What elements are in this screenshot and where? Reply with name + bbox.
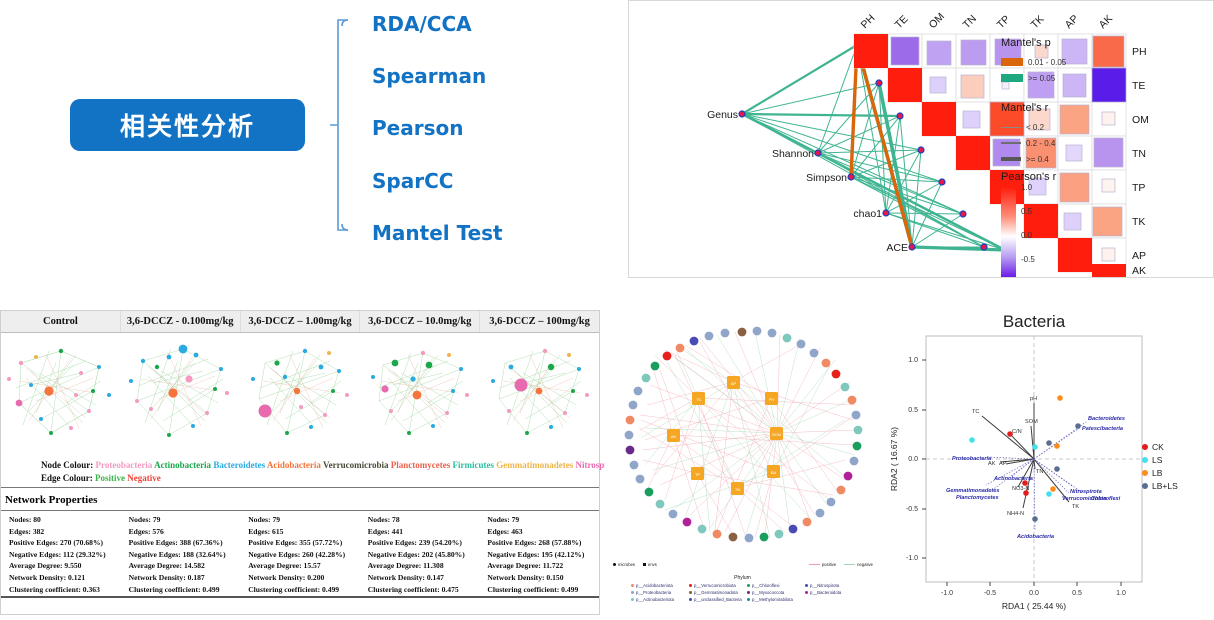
mindmap-center-label: 相关性分析 [120, 107, 255, 143]
env-label: AP [999, 461, 1007, 467]
rda-ylabel: RDA2 ( 16.67 %) [889, 427, 899, 491]
mantel-plot-svg: Genus Shannon Simpson chao1 ACE [629, 1, 1213, 277]
network-graph-svg [361, 333, 481, 455]
network-graph-control[interactable] [1, 333, 121, 455]
mantel-node-label-ace: ACE [886, 242, 908, 254]
point-ls [1046, 491, 1052, 497]
legend-label: positive [822, 562, 836, 567]
taxa-label: Patescibacteria [1082, 426, 1123, 432]
legend-label: negative [857, 562, 873, 567]
point-lb [1050, 486, 1056, 492]
env-node-label: PH [769, 397, 775, 402]
taxa-label: Acidobacteria [1016, 534, 1054, 540]
point-ls [969, 437, 975, 443]
network-column-headers: Control 3,6-DCCZ - 0.100mg/kg 3,6-DCCZ –… [1, 311, 599, 333]
phylum-label: p__Methylomirabilota [752, 596, 793, 603]
rda-xlabel: RDA1 ( 25.44 %) [1002, 601, 1066, 611]
network-col-title-dccz-0100: 3,6-DCCZ - 0.100mg/kg [121, 311, 241, 332]
taxa-label: Planctomycetes [956, 495, 999, 501]
phylum-legend-item: p__Chloroflexi [747, 582, 803, 589]
mantel-node-label-shannon: Shannon [772, 148, 814, 160]
mantel-legend-p-item: >= 0.05 [1001, 70, 1066, 86]
prop-edges: Edges: 576 [129, 526, 241, 538]
prop-positive: Positive Edges: 355 (57.72%) [248, 537, 360, 549]
phylum-dot-icon [689, 598, 692, 601]
prop-edges: Edges: 441 [368, 526, 480, 538]
network-graphs-row [1, 333, 599, 455]
mantel-node-label-genus: Genus [707, 109, 738, 121]
prop-edges: Edges: 382 [9, 526, 121, 538]
point-lb [1054, 443, 1060, 449]
legend-line-thick [1001, 157, 1021, 162]
env-label: TC [972, 409, 979, 415]
rda-legend-item-ck[interactable]: CK [1142, 440, 1178, 453]
prop-avg-degree: Average Degree: 14.582 [129, 560, 241, 572]
legend-label: 0.01 - 0.05 [1028, 58, 1066, 67]
mantel-col-labels: PH TE OM TN TP TK AP AK [859, 11, 1115, 31]
mantel-row-label: TE [1132, 80, 1145, 92]
pearson-tick: 0.5 [1021, 207, 1032, 216]
env-node-label: BA [771, 470, 777, 475]
svg-text:0.0: 0.0 [1029, 590, 1039, 597]
legend-label: LB [1152, 468, 1162, 478]
legend-label: >= 0.4 [1026, 155, 1049, 164]
network-properties-column: Nodes: 78 Edges: 441 Positive Edges: 239… [360, 514, 480, 595]
env-label: NH4-N [1007, 511, 1024, 517]
phylum-legend-item: p__Acidobacteriota [631, 582, 687, 589]
rda-legend-item-lb[interactable]: LB [1142, 466, 1178, 479]
prop-clustering: Clustering coefficient: 0.499 [129, 584, 241, 596]
prop-negative: Negative Edges: 202 (45.80%) [368, 549, 480, 561]
mantel-row-label: AK [1132, 265, 1146, 277]
positive-line-icon [809, 564, 820, 565]
env-node-label: SOM [772, 432, 781, 437]
phylum-legend-item: p__Myxococcota [747, 589, 803, 596]
prop-density: Network Density: 0.150 [487, 572, 599, 584]
network-graph-dccz-0100[interactable] [121, 333, 241, 455]
network-comparison-figure: Control 3,6-DCCZ - 0.100mg/kg 3,6-DCCZ –… [0, 310, 600, 615]
mindmap-item-label: RDA/CCA [372, 12, 472, 36]
taxa-label: Nitrospirota [1070, 489, 1102, 495]
env-node-label: TN [735, 487, 740, 492]
phylum-label: p__Proteobacteria [636, 589, 671, 596]
edge-positive-label: Positive [95, 473, 125, 483]
mantel-col-label: TN [961, 13, 979, 31]
correlation-analysis-mindmap: 相关性分析 RDA/CCA Spearman Pearson SparCC Ma… [0, 0, 610, 300]
network-graph-svg [241, 333, 361, 455]
phylum-legend-item: p__Actinobacteriota [631, 596, 687, 603]
network-colour-legend: Node Colour: Proteobacteria Actinobacter… [1, 455, 599, 487]
edge-colour-label: Edge Colour: [41, 473, 93, 483]
svg-text:1.0: 1.0 [908, 357, 918, 364]
phylum-label: p__Chloroflexi [752, 582, 779, 589]
network-col-title-dccz-100: 3,6-DCCZ – 1.00mg/kg [241, 311, 361, 332]
phylum-legend-item: p__Methylomirabilota [747, 596, 803, 603]
mantel-legend-r-item: >= 0.4 [1001, 151, 1055, 167]
legend-label: >= 0.05 [1028, 74, 1055, 83]
mindmap-item-pearson[interactable]: Pearson [372, 116, 463, 140]
circular-network-figure: AP TS PH AK SOM TP BA TN microbes env [605, 310, 880, 615]
mantel-legend-p-title: Mantel's p [1001, 37, 1066, 49]
phylum-label: p__Verrucomicrobiota [694, 582, 736, 589]
phylum-legend-item: p__Nitrospirota [805, 582, 861, 589]
phylum-label: p__Actinobacteriota [636, 596, 674, 603]
phylum-legend-title: Phylum [605, 575, 880, 581]
prop-positive: Positive Edges: 388 (67.36%) [129, 537, 241, 549]
phylum-label: p__unclassified_Bacteria [694, 596, 742, 603]
prop-avg-degree: Average Degree: 11.722 [487, 560, 599, 572]
prop-density: Network Density: 0.121 [9, 572, 121, 584]
legend-label: envs [648, 562, 657, 567]
legend-line-thin [1001, 127, 1021, 128]
rda-legend-item-ls[interactable]: LS [1142, 453, 1178, 466]
taxon-label: Acidobacteria [267, 460, 321, 470]
legend-label: microbes [618, 562, 635, 567]
prop-nodes: Nodes: 79 [129, 514, 241, 526]
taxon-label: Actinobacteria [154, 460, 211, 470]
prop-positive: Positive Edges: 239 (54.20%) [368, 537, 480, 549]
env-node-label: TS [696, 397, 701, 402]
phylum-legend-item: p__unclassified_Bacteria [689, 596, 745, 603]
phylum-dot-icon [747, 598, 750, 601]
svg-text:0.0: 0.0 [908, 456, 918, 463]
prop-clustering: Clustering coefficient: 0.475 [368, 584, 480, 596]
phylum-dot-icon [631, 591, 634, 594]
env-label: TK [1072, 504, 1079, 510]
legend-envs: envs [643, 562, 657, 567]
legend-label: 0.2 - 0.4 [1026, 139, 1055, 148]
phylum-dot-icon [805, 584, 808, 587]
point-ck [1023, 490, 1029, 496]
pearson-tick: 0.0 [1021, 231, 1032, 240]
env-label: TN [1036, 469, 1043, 475]
taxa-label: Chloroflexi [1091, 496, 1121, 502]
env-node-label: AP [731, 381, 737, 386]
mindmap-item-label: SparCC [372, 169, 453, 193]
network-graph-dccz-100mg[interactable] [481, 333, 601, 455]
phylum-dot-icon [631, 598, 634, 601]
legend-label: LS [1152, 455, 1162, 465]
network-graph-svg [481, 333, 601, 455]
legend-label: CK [1152, 442, 1164, 452]
taxon-label: Proteobacteria [96, 460, 153, 470]
phylum-dot-icon [689, 591, 692, 594]
svg-text:-0.5: -0.5 [984, 590, 996, 597]
circle-shape-icon [613, 563, 616, 566]
env-node-label: TP [695, 472, 700, 477]
mantel-node-label-chao1: chao1 [853, 208, 882, 220]
prop-nodes: Nodes: 80 [9, 514, 121, 526]
env-label: SOM [1025, 419, 1038, 425]
prop-negative: Negative Edges: 195 (42.12%) [487, 549, 599, 561]
prop-clustering: Clustering coefficient: 0.499 [487, 584, 599, 596]
mindmap-center-node[interactable]: 相关性分析 [70, 99, 305, 151]
phylum-dot-icon [747, 591, 750, 594]
network-properties-table: Nodes: 80 Edges: 382 Positive Edges: 270… [1, 511, 599, 595]
mindmap-item-label: Mantel Test [372, 221, 503, 245]
prop-positive: Positive Edges: 270 (70.68%) [9, 537, 121, 549]
mantel-row-labels: PH TE OM TN TP TK AP AK [1132, 46, 1149, 277]
phylum-label: p__Nitrospirota [810, 582, 839, 589]
pearson-tick: 1.0 [1021, 183, 1032, 192]
mantel-row-label: OM [1132, 114, 1149, 126]
legend-dot-icon [1142, 457, 1148, 463]
phylum-label: p__Myxococcota [752, 589, 784, 596]
pearson-colorbar [1001, 187, 1016, 277]
mindmap-item-label: Pearson [372, 116, 463, 140]
network-graph-dccz-1000[interactable] [361, 333, 481, 455]
legend-label: < 0.2 [1026, 123, 1044, 132]
point-lb-ls [1032, 516, 1038, 522]
mantel-row-label: TK [1132, 216, 1145, 228]
legend-microbes: microbes [613, 562, 635, 567]
mantel-legend-r-item: < 0.2 [1001, 119, 1055, 135]
phylum-dot-icon [689, 584, 692, 587]
mindmap-item-spearman[interactable]: Spearman [372, 64, 486, 88]
legend-dot-icon [1142, 470, 1148, 476]
rda-title: Bacteria [884, 312, 1184, 332]
network-graph-svg [121, 333, 241, 455]
network-properties-column: Nodes: 80 Edges: 382 Positive Edges: 270… [1, 514, 121, 595]
mindmap-item-sparcc[interactable]: SparCC [372, 169, 453, 193]
svg-text:-1.0: -1.0 [941, 590, 953, 597]
phylum-dot-icon [747, 584, 750, 587]
mantel-legend-p-item: 0.01 - 0.05 [1001, 54, 1066, 70]
mantel-col-label: TK [1029, 13, 1047, 31]
taxon-label: Gemmatimonadetes [496, 460, 573, 470]
mantel-row-label: AP [1132, 250, 1146, 262]
mantel-test-figure: Genus Shannon Simpson chao1 ACE [628, 0, 1214, 278]
taxon-label: Bacteroidetes [213, 460, 265, 470]
prop-nodes: Nodes: 79 [487, 514, 599, 526]
negative-line-icon [844, 564, 855, 565]
env-label: C/N [1012, 429, 1022, 435]
prop-density: Network Density: 0.187 [129, 572, 241, 584]
point-lb-ls [1054, 466, 1060, 472]
phylum-label: p__Bacteroidota [810, 589, 841, 596]
legend-swatch-green [1001, 74, 1023, 82]
network-col-title-control: Control [1, 311, 121, 332]
legend-swatch-orange [1001, 58, 1023, 66]
legend-edge-positive: positive [809, 562, 836, 567]
point-lb-ls [1046, 440, 1052, 446]
mantel-row-label: TN [1132, 148, 1146, 160]
phylum-dot-icon [805, 591, 808, 594]
network-properties-column: Nodes: 79 Edges: 615 Positive Edges: 355… [240, 514, 360, 595]
legend-dot-icon [1142, 444, 1148, 450]
square-shape-icon [643, 563, 646, 566]
svg-text:0.5: 0.5 [908, 407, 918, 414]
node-colour-legend-line: Node Colour: Proteobacteria Actinobacter… [41, 459, 591, 472]
network-properties-bottom-rule [1, 596, 599, 598]
prop-negative: Negative Edges: 188 (32.64%) [129, 549, 241, 561]
point-lb-ls [1075, 423, 1081, 429]
point-ls [1032, 444, 1038, 450]
circular-network-svg[interactable]: AP TS PH AK SOM TP BA TN [605, 310, 880, 560]
node-colour-label: Node Colour: [41, 460, 93, 470]
mantel-col-label: OM [927, 11, 947, 31]
prop-edges: Edges: 463 [487, 526, 599, 538]
rda-legend-item-lb-ls[interactable]: LB+LS [1142, 479, 1178, 492]
phylum-dot-icon [631, 584, 634, 587]
svg-text:1.0: 1.0 [1116, 590, 1126, 597]
mantel-col-label: AP [1063, 13, 1081, 31]
mantel-col-label: PH [859, 12, 878, 31]
env-node-label: AK [671, 434, 677, 439]
taxon-label: Planctomycetes [391, 460, 450, 470]
network-properties-title: Network Properties [5, 494, 97, 506]
network-properties-column: Nodes: 79 Edges: 576 Positive Edges: 388… [121, 514, 241, 595]
mindmap-item-mantel-test[interactable]: Mantel Test [372, 221, 503, 245]
taxa-label: Bacteroidetes [1088, 416, 1125, 422]
network-graph-dccz-100[interactable] [241, 333, 361, 455]
rda-bacteria-figure: Bacteria -1.0 -0.5 0.0 0.5 1.0 -1.0 -0.5… [884, 310, 1214, 615]
svg-text:-0.5: -0.5 [906, 506, 918, 513]
mantel-node-label-simpson: Simpson [806, 172, 847, 184]
prop-clustering: Clustering coefficient: 0.499 [248, 584, 360, 596]
env-label: pH [1030, 396, 1037, 402]
mantel-node-labels: Genus Shannon Simpson chao1 ACE [707, 109, 908, 254]
network-properties-header: Network Properties [1, 487, 599, 511]
circular-network-shape-legend: microbes envs positive negative [613, 562, 873, 567]
rda-y-ticks: -1.0 -0.5 0.0 0.5 1.0 [906, 357, 926, 562]
phylum-legend-item: p__Bacteroidota [805, 589, 861, 596]
prop-avg-degree: Average Degree: 11.308 [368, 560, 480, 572]
taxa-label: Proteobacteria [952, 456, 991, 462]
mantel-legend-pearson: Pearson's r 1.0 0.5 0.0 -0.5 [1001, 171, 1071, 277]
network-graph-svg [1, 333, 121, 455]
network-properties-column: Nodes: 79 Edges: 463 Positive Edges: 268… [479, 514, 599, 595]
legend-edge-negative: negative [844, 562, 873, 567]
phylum-legend-item: p__Gemmatimonadota [689, 589, 745, 596]
mantel-legend-r-item: 0.2 - 0.4 [1001, 135, 1055, 151]
legend-line-medium [1001, 142, 1021, 145]
rda-x-ticks: -1.0 -0.5 0.0 0.5 1.0 [941, 582, 1126, 597]
taxon-label: Verrucomicrobia [323, 460, 389, 470]
prop-negative: Negative Edges: 112 (29.32%) [9, 549, 121, 561]
rda-legend: CK LS LB LB+LS [1142, 440, 1178, 492]
mantel-col-label: AK [1097, 13, 1115, 31]
prop-positive: Positive Edges: 268 (57.88%) [487, 537, 599, 549]
mantel-row-label: PH [1132, 46, 1147, 58]
mantel-legend-p: Mantel's p 0.01 - 0.05 >= 0.05 [1001, 37, 1066, 86]
point-lb [1057, 395, 1063, 401]
prop-negative: Negative Edges: 260 (42.28%) [248, 549, 360, 561]
phylum-legend-grid: p__Acidobacteriota p__Verrucomicrobiota … [631, 582, 861, 603]
prop-density: Network Density: 0.200 [248, 572, 360, 584]
edge-colour-legend-line: Edge Colour: Positive Negative [41, 472, 591, 485]
prop-density: Network Density: 0.147 [368, 572, 480, 584]
prop-edges: Edges: 615 [248, 526, 360, 538]
taxon-label: Firmicutes [452, 460, 493, 470]
mantel-legend-r-title: Mantel's r [1001, 102, 1055, 114]
mantel-col-label: TE [893, 13, 911, 31]
prop-nodes: Nodes: 79 [248, 514, 360, 526]
network-col-title-dccz-100mg: 3,6-DCCZ – 100mg/kg [480, 311, 599, 332]
phylum-label: p__Gemmatimonadota [694, 589, 738, 596]
svg-text:0.5: 0.5 [1072, 590, 1082, 597]
svg-text:-1.0: -1.0 [906, 555, 918, 562]
network-col-title-dccz-1000: 3,6-DCCZ – 10.0mg/kg [360, 311, 480, 332]
mantel-row-label: TP [1132, 182, 1145, 194]
point-ck [1022, 480, 1028, 486]
legend-label: LB+LS [1152, 481, 1178, 491]
pearson-legend-title: Pearson's r [1001, 171, 1071, 183]
prop-nodes: Nodes: 78 [368, 514, 480, 526]
mantel-col-label: TP [995, 13, 1013, 31]
mindmap-item-rda-cca[interactable]: RDA/CCA [372, 12, 472, 36]
point-ck [1007, 431, 1013, 437]
edge-negative-label: Negative [127, 473, 161, 483]
mantel-legend-r: Mantel's r < 0.2 0.2 - 0.4 >= 0.4 [1001, 102, 1055, 167]
phylum-label: p__Acidobacteriota [636, 582, 673, 589]
prop-avg-degree: Average Degree: 15.57 [248, 560, 360, 572]
mindmap-item-label: Spearman [372, 64, 486, 88]
phylum-legend-item: p__Proteobacteria [631, 589, 687, 596]
prop-avg-degree: Average Degree: 9.550 [9, 560, 121, 572]
pearson-tick: -0.5 [1021, 255, 1035, 264]
taxa-label: Gemmatimonadetes [946, 488, 999, 494]
prop-clustering: Clustering coefficient: 0.363 [9, 584, 121, 596]
legend-dot-icon [1142, 483, 1148, 489]
phylum-legend-item: p__Verrucomicrobiota [689, 582, 745, 589]
